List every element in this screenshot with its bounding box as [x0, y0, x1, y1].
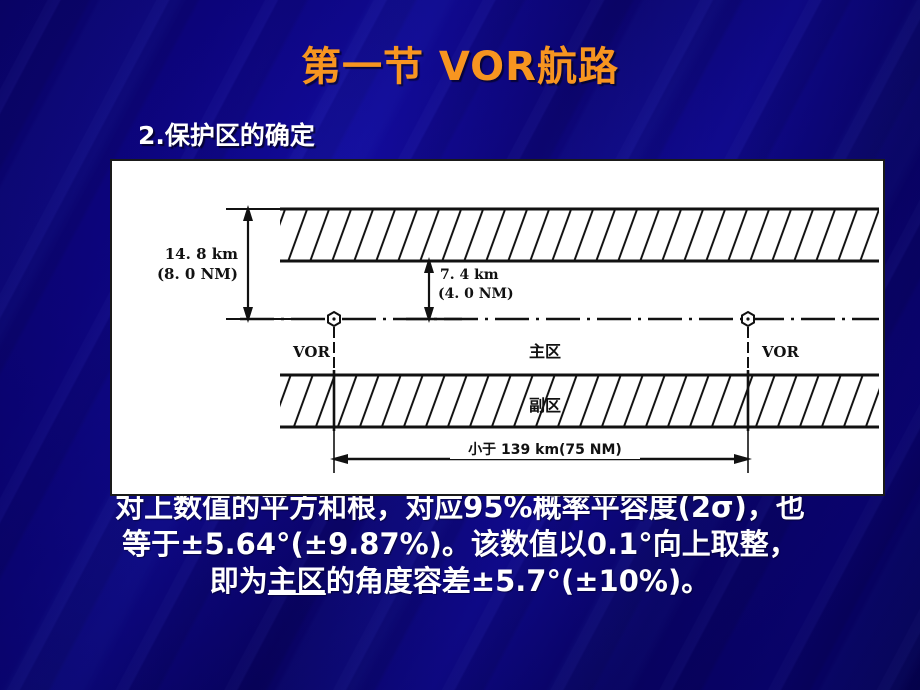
- label-inner-width-km: 7. 4 km: [440, 267, 499, 283]
- upper-secondary-area-band: [280, 209, 879, 261]
- dimension-station-span: 小于 139 km(75 NM): [330, 427, 752, 473]
- slide-title: 第一节 VOR航路: [0, 34, 920, 92]
- label-outer-width-nm: (8. 0 NM): [157, 265, 238, 283]
- label-primary-area: 主区: [529, 342, 561, 361]
- slide-subtitle: 2.保护区的确定: [138, 116, 315, 152]
- label-secondary-area: 副区: [529, 396, 561, 415]
- body-line-3-prefix: 即为: [210, 564, 268, 598]
- figure-inner: 14. 8 km (8. 0 NM) 7. 4 km (4. 0 NM): [120, 171, 875, 486]
- body-line-2: 等于±5.64°(±9.87%)。该数值以0.1°向上取整，: [0, 526, 920, 563]
- vor-protection-area-svg: 14. 8 km (8. 0 NM) 7. 4 km (4. 0 NM): [120, 171, 879, 486]
- body-line-3: 即为主区的角度容差±5.7°(±10%)。: [0, 563, 920, 600]
- label-vor-right: VOR: [761, 343, 799, 361]
- label-station-span: 小于 139 km(75 NM): [468, 442, 622, 458]
- dimension-outer-width: 14. 8 km (8. 0 NM): [157, 205, 292, 323]
- dimension-inner-width: 7. 4 km (4. 0 NM): [406, 257, 514, 323]
- body-text-block: 对上数值的平方和根，对应95%概率平容度(2σ)，也 等于±5.64°(±9.8…: [0, 495, 920, 600]
- presentation-slide: 第一节 VOR航路 2.保护区的确定 对上数值的平方和根，对应95%概率平容度(…: [0, 0, 920, 690]
- body-line-3-suffix: 的角度容差±5.7°(±10%)。: [326, 564, 710, 598]
- label-inner-width-nm: (4. 0 NM): [438, 286, 514, 302]
- body-line-3-underlined-term: 主区: [268, 564, 326, 598]
- lower-secondary-area-band: [280, 375, 879, 427]
- label-outer-width-km: 14. 8 km: [165, 245, 238, 263]
- label-vor-left: VOR: [292, 343, 330, 361]
- figure-panel: 14. 8 km (8. 0 NM) 7. 4 km (4. 0 NM): [110, 159, 885, 496]
